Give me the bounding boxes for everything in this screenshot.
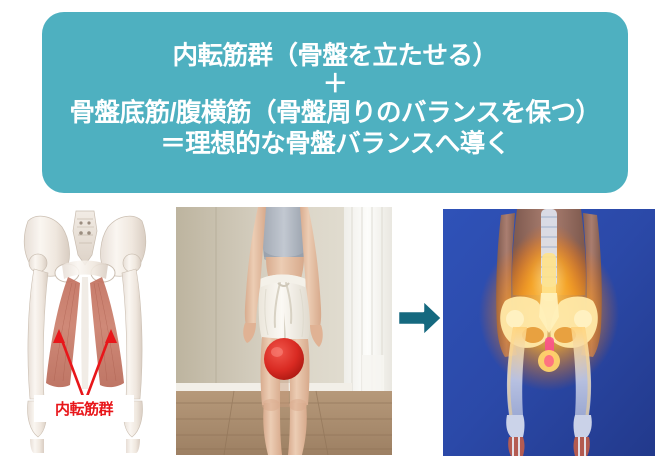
banner-line-1: 内転筋群（骨盤を立たせる） [172,42,497,71]
xray-illustration [443,209,655,456]
panel-row: 内転筋群 [0,203,670,455]
xray-graphic [443,209,655,456]
exercise-photo-graphic [176,207,392,455]
arrow-right-icon [396,296,444,340]
exercise-photo [176,207,392,455]
adductor-label: 内転筋群 [34,395,134,422]
banner-line-2-plus: ＋ [323,72,348,97]
red-exercise-ball [264,338,304,380]
adductor-label-text: 内転筋群 [55,398,113,419]
progression-arrow [396,296,444,340]
anatomy-illustration: 内転筋群 [18,203,152,453]
banner-line-4: ＝理想的な骨盤バランスへ導く [160,130,510,159]
header-banner: 内転筋群（骨盤を立たせる） ＋ 骨盤底筋/腹横筋（骨盤周りのバランスを保つ） ＝… [42,12,628,193]
banner-line-3: 骨盤底筋/腹横筋（骨盤周りのバランスを保つ） [69,99,600,128]
